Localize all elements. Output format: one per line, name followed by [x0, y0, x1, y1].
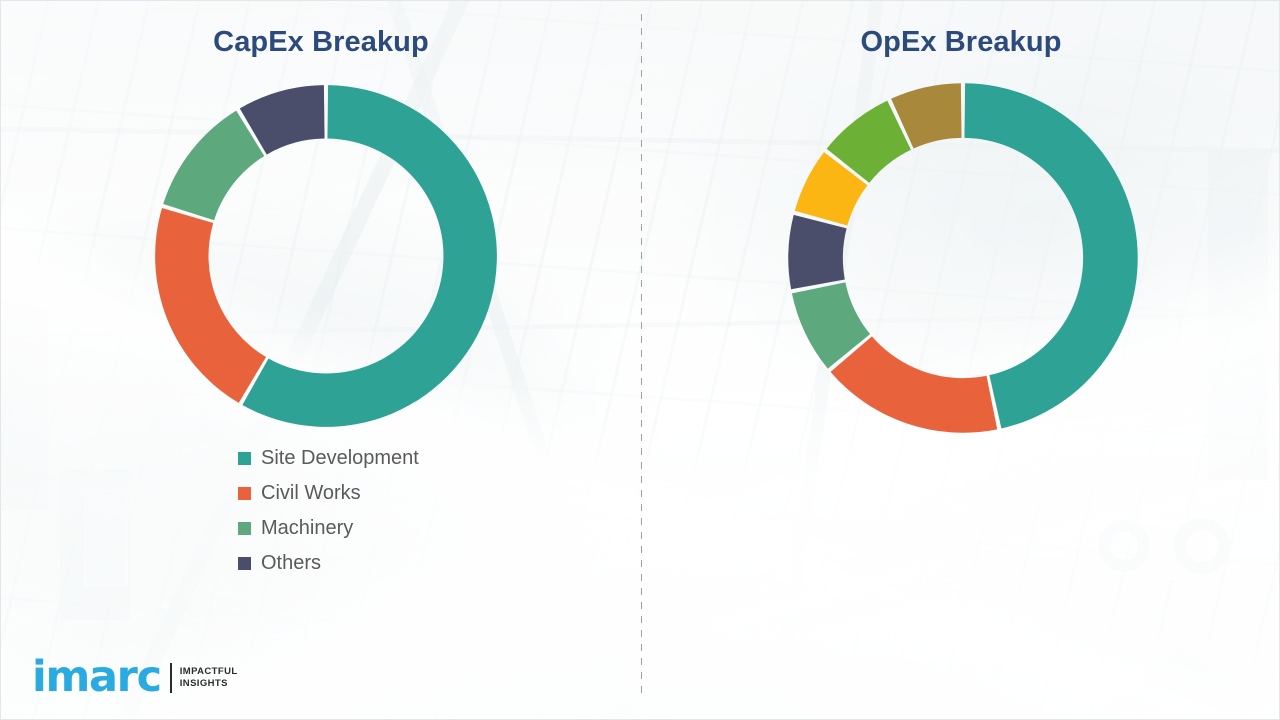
opex-donut-svg: [781, 76, 1145, 440]
legend-item[interactable]: Others: [238, 553, 419, 573]
imarc-tagline: IMPACTFUL INSIGHTS: [180, 666, 238, 690]
imarc-tagline-line1: IMPACTFUL: [180, 666, 238, 677]
legend-swatch-icon: [238, 522, 251, 535]
capex-chart-title: CapEx Breakup: [0, 26, 642, 59]
slide-canvas: CapEx Breakup Site Development Civil Wor…: [0, 0, 1280, 720]
legend-item-label: Site Development: [261, 448, 419, 468]
legend-item-label: Others: [261, 553, 321, 573]
imarc-wordmark: imarc: [32, 657, 161, 698]
legend-item[interactable]: Machinery: [238, 518, 419, 538]
opex-donut-chart: [781, 76, 1145, 440]
legend-item[interactable]: Civil Works: [238, 483, 419, 503]
logo-divider-rule: [170, 663, 172, 693]
capex-legend: Site Development Civil Works Machinery O…: [238, 448, 419, 588]
imarc-logo: imarc IMPACTFUL INSIGHTS: [32, 657, 238, 698]
legend-item-label: Machinery: [261, 518, 353, 538]
legend-swatch-icon: [238, 487, 251, 500]
legend-swatch-icon: [238, 452, 251, 465]
legend-swatch-icon: [238, 557, 251, 570]
legend-item[interactable]: Site Development: [238, 448, 419, 468]
opex-panel: OpEx Breakup Raw Materials Salaries and …: [642, 0, 1280, 720]
donut-slice[interactable]: [788, 215, 846, 289]
capex-slices: [155, 85, 497, 427]
donut-slice[interactable]: [964, 83, 1137, 428]
capex-panel: CapEx Breakup Site Development Civil Wor…: [0, 0, 642, 720]
capex-donut-svg: [148, 78, 504, 434]
donut-slice[interactable]: [831, 336, 998, 432]
opex-slices: [788, 83, 1137, 432]
donut-slice[interactable]: [155, 208, 266, 403]
imarc-tagline-line2: INSIGHTS: [180, 678, 228, 689]
legend-item-label: Civil Works: [261, 483, 361, 503]
donut-slice[interactable]: [163, 111, 264, 221]
capex-donut-chart: [148, 78, 504, 434]
opex-chart-title: OpEx Breakup: [642, 26, 1280, 59]
